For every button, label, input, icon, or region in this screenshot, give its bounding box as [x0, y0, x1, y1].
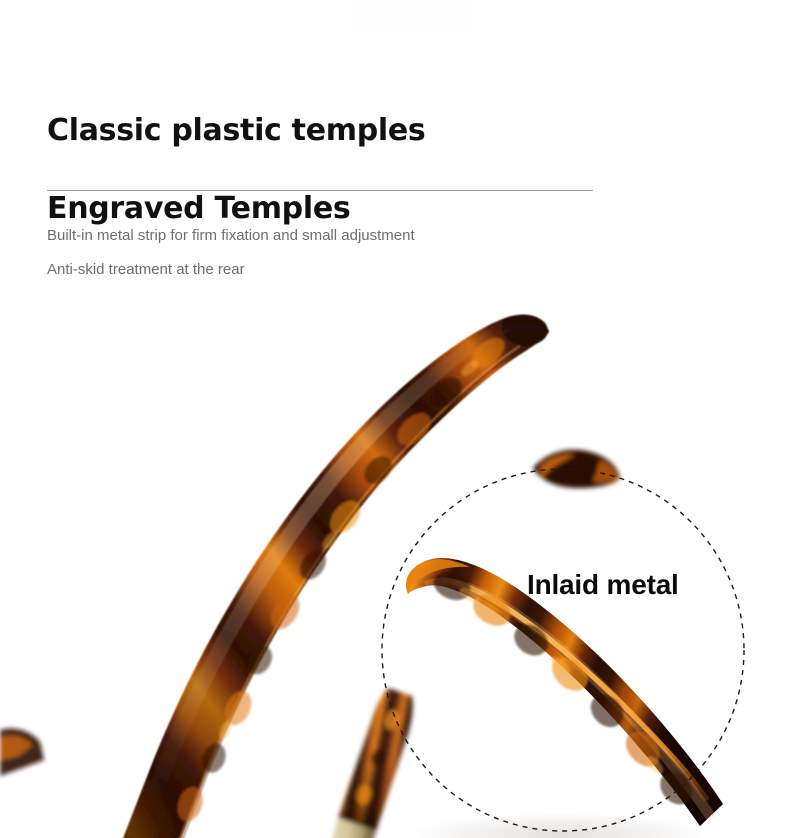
feature-description-line-1: Built-in metal strip for firm fixation a… — [47, 219, 687, 253]
headline-line-1: Classic plastic temples — [47, 111, 667, 150]
product-feature-page: Classic plastic temples Engraved Temples… — [0, 0, 790, 838]
feature-description: Built-in metal strip for firm fixation a… — [47, 219, 687, 287]
watermark-smudge — [352, 0, 472, 32]
inlaid-metal-label: Inlaid metal — [527, 568, 679, 602]
secondary-temple-arm — [312, 688, 413, 838]
product-photo-illustration — [0, 290, 790, 838]
header-divider — [47, 190, 593, 191]
lower-left-temple-fragment — [0, 729, 44, 777]
feature-description-line-2: Anti-skid treatment at the rear — [47, 253, 687, 287]
product-photo — [0, 290, 790, 838]
background-temple-tip — [533, 450, 620, 488]
